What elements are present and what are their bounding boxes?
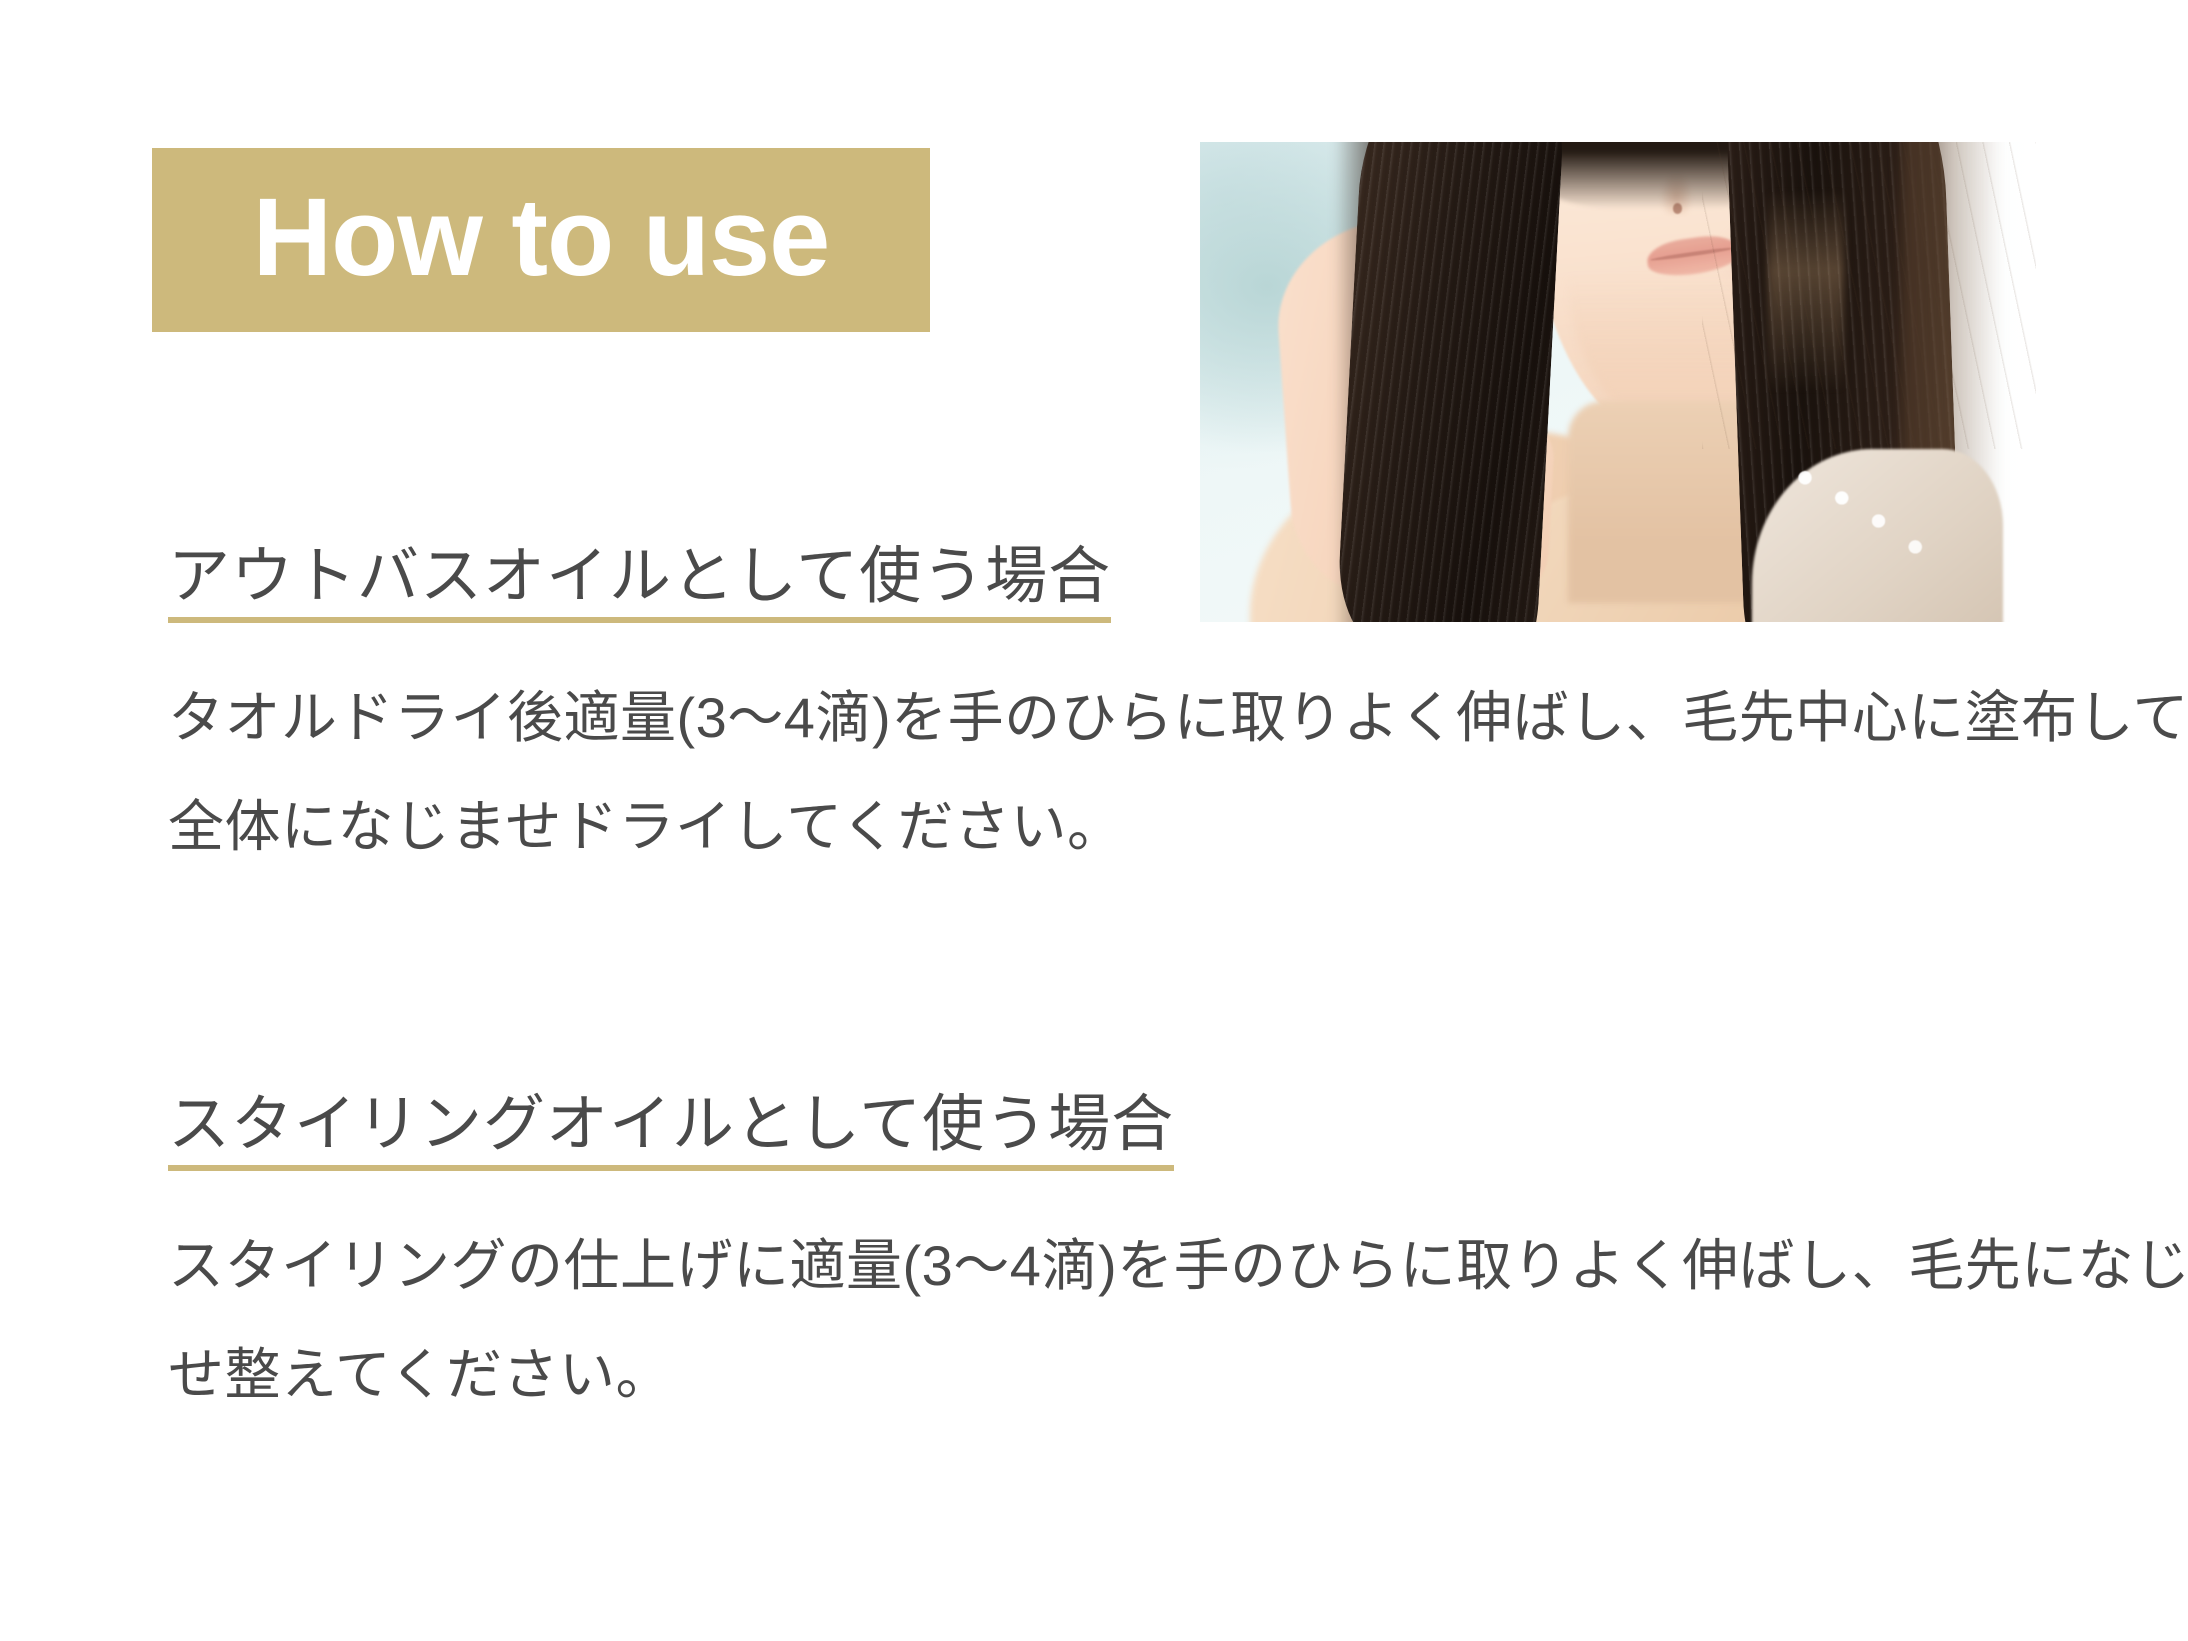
section-styling-oil: スタイリングオイルとして使う場合 スタイリングの仕上げに適量(3〜4滴)を手のひ… — [168, 1088, 2068, 1430]
section-body: タオルドライ後適量(3〜4滴)を手のひらに取りよく伸ばし、毛先中心に塗布して髪 … — [168, 663, 2068, 881]
body-line: スタイリングの仕上げに適量(3〜4滴)を手のひらに取りよく伸ばし、毛先になじま — [168, 1211, 2068, 1320]
section-out-bath-oil: アウトバスオイルとして使う場合 タオルドライ後適量(3〜4滴)を手のひらに取りよ… — [168, 540, 2068, 882]
how-to-use-banner: How to use — [152, 148, 930, 332]
photo-hair-flyaways — [1702, 142, 2036, 449]
section-heading: スタイリングオイルとして使う場合 — [168, 1088, 1174, 1171]
section-body: スタイリングの仕上げに適量(3〜4滴)を手のひらに取りよく伸ばし、毛先になじま … — [168, 1211, 2068, 1429]
section-heading: アウトバスオイルとして使う場合 — [168, 540, 1111, 623]
body-line: せ整えてください。 — [168, 1320, 2068, 1429]
body-line: タオルドライ後適量(3〜4滴)を手のひらに取りよく伸ばし、毛先中心に塗布して髪 — [168, 663, 2068, 772]
page-title: How to use — [253, 183, 830, 293]
body-line: 全体になじませドライしてください。 — [168, 772, 2068, 881]
